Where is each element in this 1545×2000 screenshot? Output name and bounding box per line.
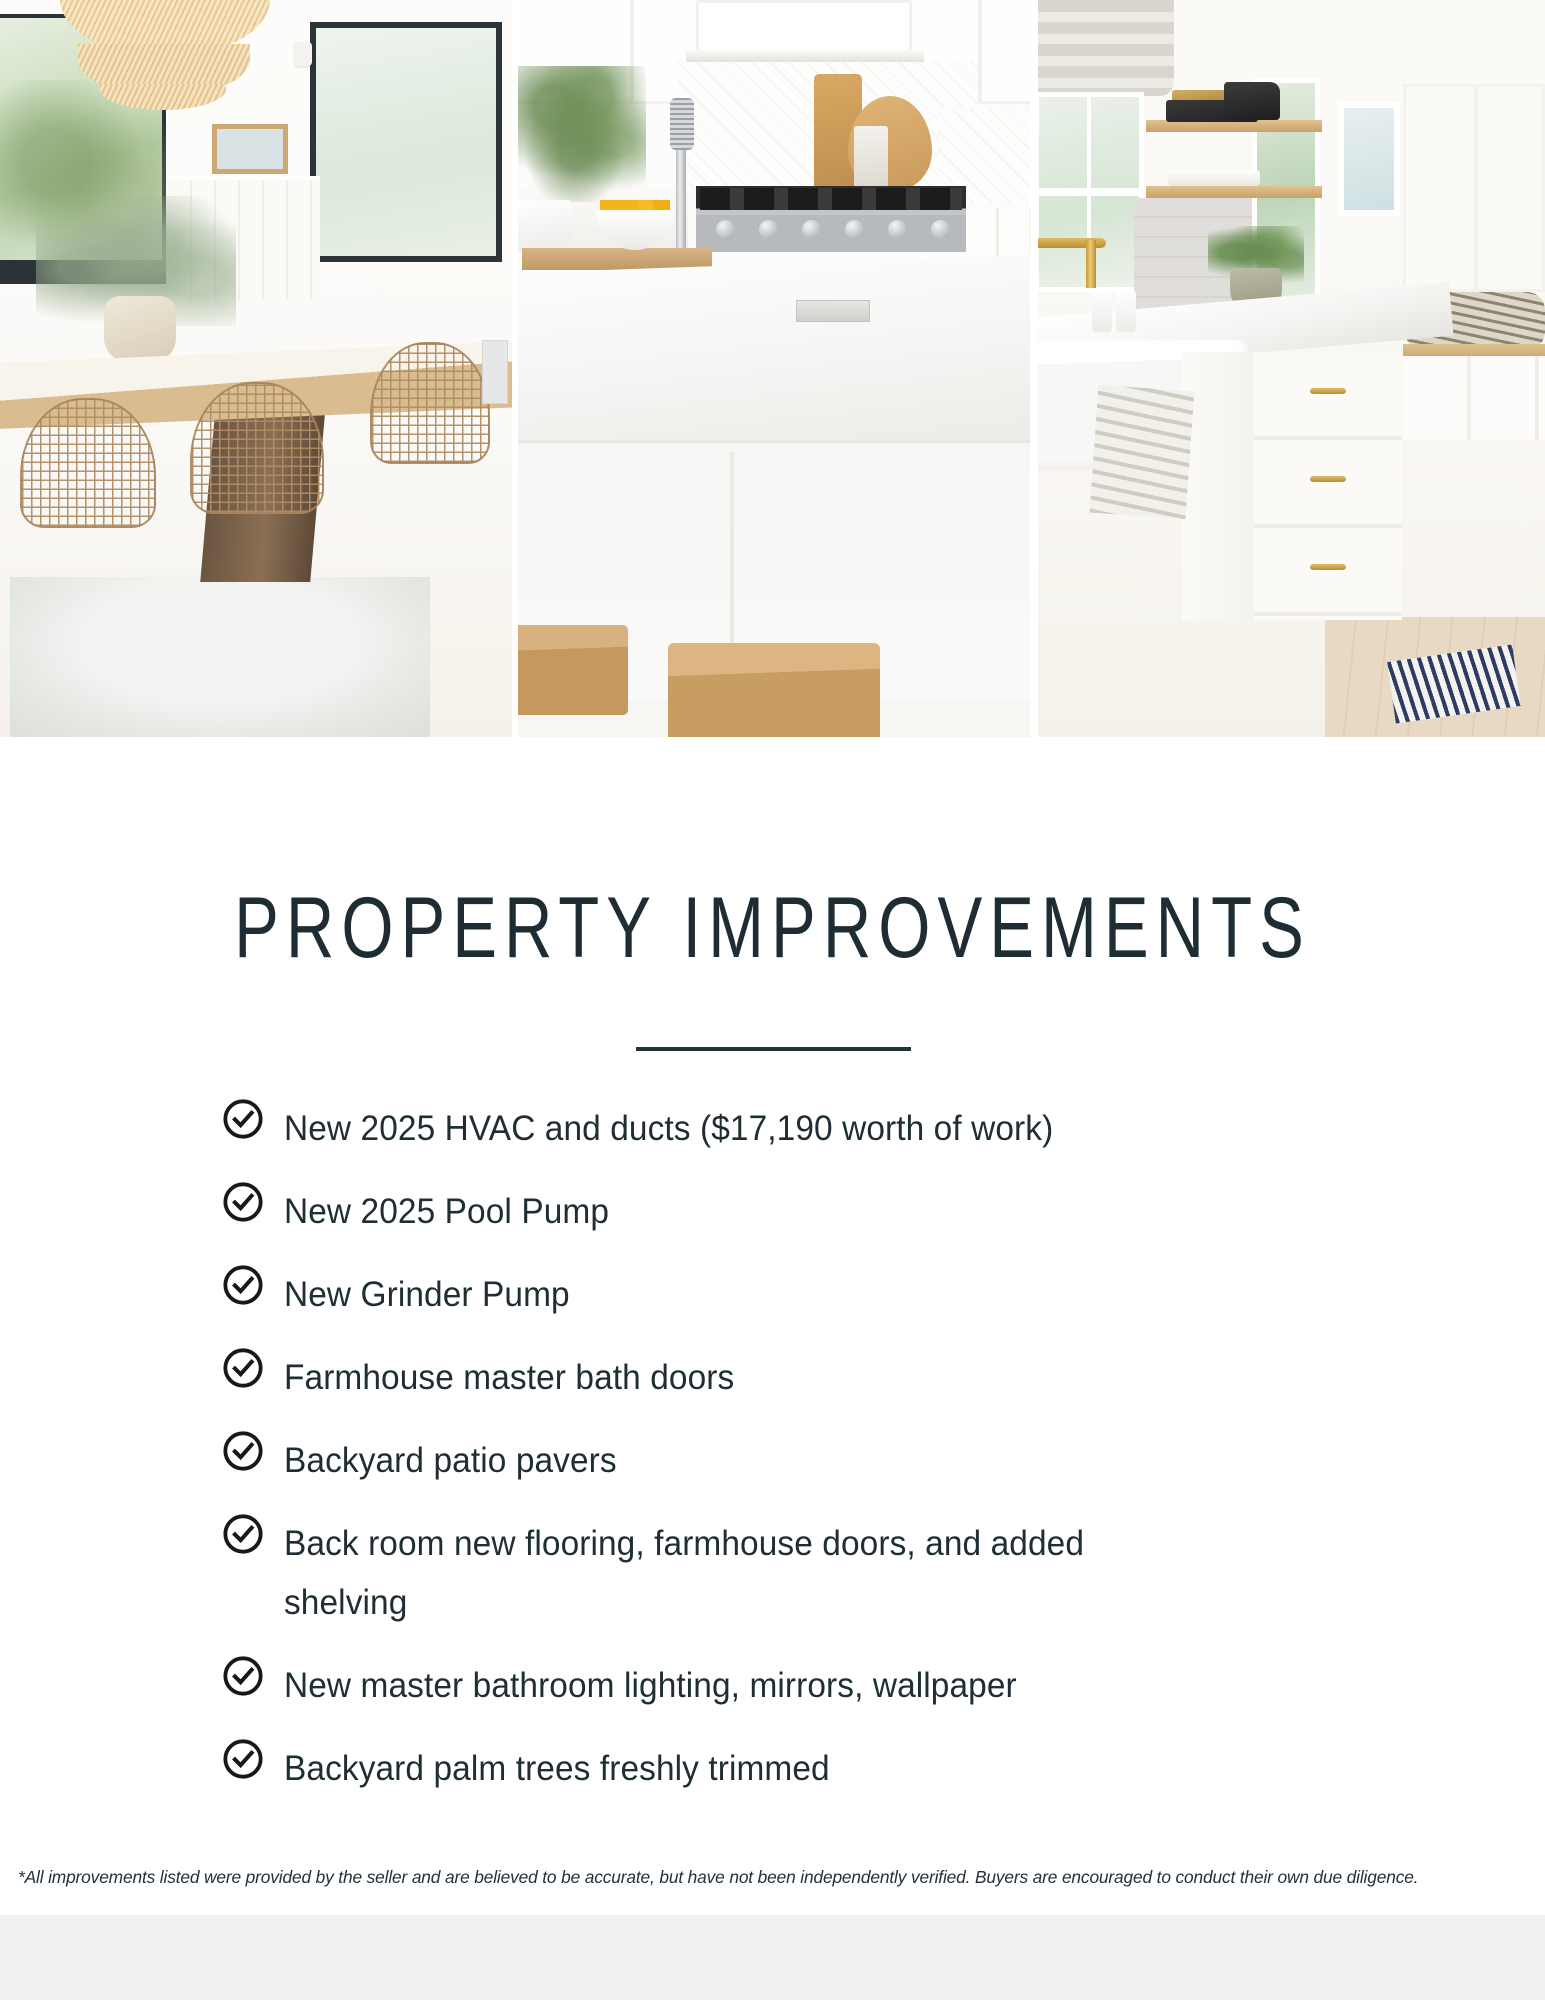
chair-mesh <box>370 342 490 464</box>
list-item: Back room new flooring, farmhouse doors,… <box>222 1514 1322 1632</box>
roman-shade <box>1038 0 1174 96</box>
framed-art <box>212 124 288 174</box>
disclaimer-text: *All improvements listed were provided b… <box>18 1866 1510 1888</box>
improvement-text: New 2025 Pool Pump <box>284 1182 609 1241</box>
list-item: Farmhouse master bath doors <box>222 1348 1322 1407</box>
improvement-text: Farmhouse master bath doors <box>284 1348 734 1407</box>
wood-stool-left <box>518 625 628 715</box>
wire-chair-back <box>370 342 490 464</box>
faucet-spray-head <box>670 98 694 150</box>
check-circle-icon <box>222 1347 264 1389</box>
range-knobs <box>704 218 962 240</box>
improvement-text: New master bathroom lighting, mirrors, w… <box>284 1656 1017 1715</box>
check-circle-icon <box>222 1655 264 1697</box>
list-item: New Grinder Pump <box>222 1265 1322 1324</box>
content-area: PROPERTY IMPROVEMENTS New 2025 HVAC and … <box>0 737 1545 1915</box>
marble-board <box>854 126 888 188</box>
wall-sensor <box>294 42 312 66</box>
chair-mesh <box>190 382 324 514</box>
wall-vent <box>482 340 508 404</box>
brass-faucet-column <box>1086 240 1096 288</box>
list-item: Backyard patio pavers <box>222 1431 1322 1490</box>
list-item: New 2025 Pool Pump <box>222 1182 1322 1241</box>
drawer-pull <box>1310 476 1346 482</box>
footer-band <box>0 1915 1545 2000</box>
olive-tree-plant <box>518 66 646 202</box>
check-circle-icon <box>222 1264 264 1306</box>
chair-mesh <box>20 398 156 528</box>
wire-chair-front <box>20 398 156 528</box>
range-burners <box>700 188 962 210</box>
ceramic-vase <box>104 296 176 362</box>
range-hood-lip <box>686 50 924 62</box>
check-circle-icon <box>222 1738 264 1780</box>
check-circle-icon <box>222 1513 264 1555</box>
list-item: Backyard palm trees freshly trimmed <box>222 1739 1322 1798</box>
list-item: New 2025 HVAC and ducts ($17,190 worth o… <box>222 1099 1322 1158</box>
soap-dispenser-2 <box>1116 290 1136 332</box>
title-divider <box>636 1047 911 1051</box>
striped-tea-towel <box>1090 385 1195 519</box>
soap-dispenser-1 <box>1092 288 1112 332</box>
open-shelf-lower <box>1146 186 1322 198</box>
island-panel-seam <box>730 452 734 662</box>
black-pitcher <box>1224 82 1280 120</box>
improvement-text: Backyard palm trees freshly trimmed <box>284 1739 830 1798</box>
check-circle-icon <box>222 1098 264 1140</box>
improvement-text: Back room new flooring, farmhouse doors,… <box>284 1514 1124 1632</box>
improvement-text: New 2025 HVAC and ducts ($17,190 worth o… <box>284 1099 1053 1158</box>
drawer-pull <box>1310 564 1346 570</box>
dining-room-scene <box>0 0 512 737</box>
area-rug <box>10 577 430 737</box>
farmhouse-sink-scene <box>1038 0 1545 737</box>
property-improvements-page: PROPERTY IMPROVEMENTS New 2025 HVAC and … <box>0 0 1545 2000</box>
bench-base-cabinets <box>1403 356 1545 440</box>
drawer-pull <box>1310 388 1346 394</box>
tall-cabinetry <box>1403 84 1545 292</box>
check-circle-icon <box>222 1430 264 1472</box>
dining-room-photo <box>0 0 512 737</box>
improvement-text: New Grinder Pump <box>284 1265 570 1324</box>
farmhouse-sink-photo <box>1038 0 1545 737</box>
counter-outlet <box>796 300 870 322</box>
marble-veining <box>518 270 1030 460</box>
improvement-text: Backyard patio pavers <box>284 1431 617 1490</box>
improvements-list: New 2025 HVAC and ducts ($17,190 worth o… <box>222 1099 1322 1822</box>
kitchen-island-photo <box>518 0 1030 737</box>
list-item: New master bathroom lighting, mirrors, w… <box>222 1656 1322 1715</box>
photo-strip <box>0 0 1545 737</box>
page-title: PROPERTY IMPROVEMENTS <box>170 885 1375 971</box>
kitchen-island-scene <box>518 0 1030 737</box>
right-window <box>310 22 502 262</box>
wood-stool-front <box>668 643 880 737</box>
cabinet-drawers <box>1254 352 1402 620</box>
check-circle-icon <box>222 1181 264 1223</box>
stacked-plates <box>1168 170 1260 186</box>
small-window <box>1338 102 1400 216</box>
wire-chair-middle <box>190 382 324 514</box>
plant-pot <box>518 200 572 246</box>
